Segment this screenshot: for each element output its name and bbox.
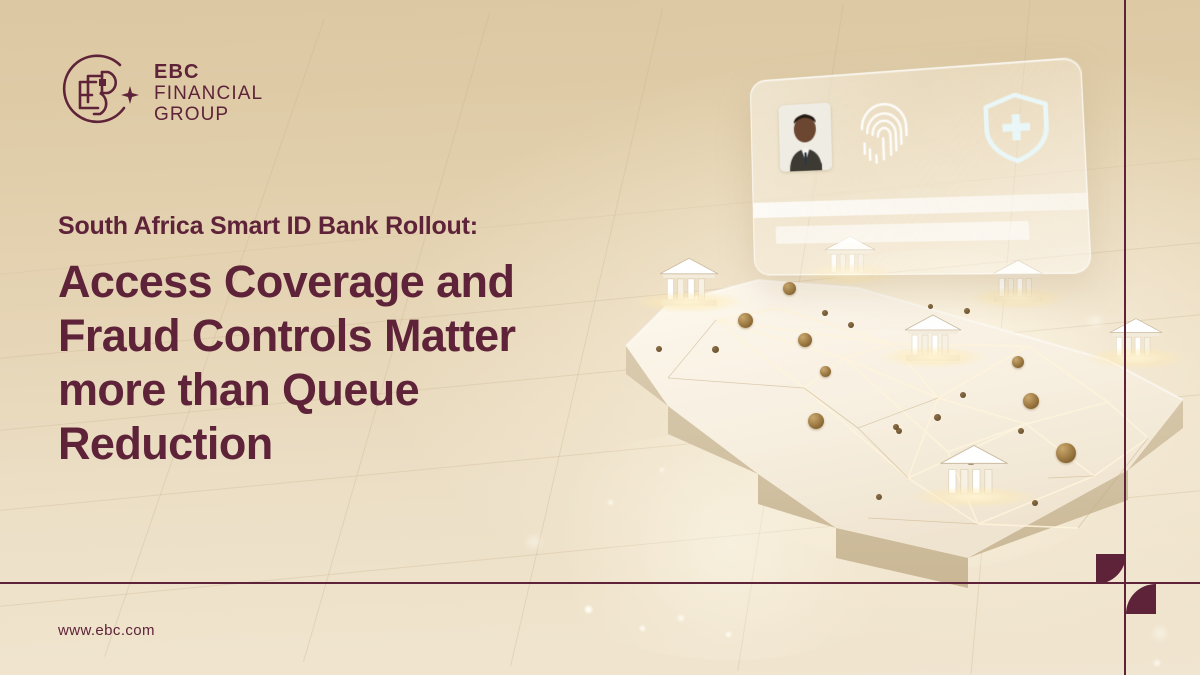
page-title: Access Coverage and Fraud Controls Matte…: [58, 255, 678, 471]
network-node-small: [928, 304, 933, 309]
network-node: [783, 282, 796, 295]
sparkle: [585, 606, 592, 613]
network-node: [738, 313, 753, 328]
headline-line: Access Coverage and: [58, 255, 678, 309]
frame-corner-lower-right: [1126, 584, 1156, 614]
brand-wordmark: EBC FINANCIAL GROUP: [154, 61, 263, 126]
brand-name-line-2: FINANCIAL: [154, 83, 263, 104]
network-node-small: [876, 494, 882, 500]
headline-block: South Africa Smart ID Bank Rollout: Acce…: [58, 212, 678, 471]
eyebrow-text: South Africa Smart ID Bank Rollout:: [58, 212, 678, 241]
network-node-small: [964, 308, 970, 314]
network-node: [798, 333, 812, 347]
sparkle: [726, 632, 731, 637]
headline-line: more than Queue: [58, 363, 678, 417]
brand-logo[interactable]: EBC FINANCIAL GROUP: [58, 52, 263, 134]
ebc-circular-monogram-icon: [58, 52, 140, 134]
fingerprint-icon: [855, 99, 914, 166]
network-node-small: [934, 414, 941, 421]
network-node-small: [822, 310, 828, 316]
network-node-small: [1018, 428, 1024, 434]
passport-portrait-photo: [778, 102, 832, 171]
website-url[interactable]: www.ebc.com: [58, 622, 155, 639]
headline-line: Fraud Controls Matter: [58, 309, 678, 363]
network-node: [1056, 443, 1076, 463]
card-signature-bar: [776, 221, 1030, 244]
brand-name-line-3: GROUP: [154, 104, 263, 125]
social-card-canvas: EBC FINANCIAL GROUP South Africa Smart I…: [0, 0, 1200, 675]
headline-line: Reduction: [58, 417, 678, 471]
sparkle: [640, 626, 645, 631]
sparkle: [1155, 628, 1165, 638]
network-node: [808, 413, 824, 429]
network-node-small: [712, 346, 719, 353]
network-node: [1023, 393, 1039, 409]
network-node: [1012, 356, 1024, 368]
shield-cross-icon: [979, 88, 1054, 165]
card-magnetic-stripe: [754, 193, 1088, 218]
network-node-small: [960, 392, 966, 398]
brand-name-line-1: EBC: [154, 61, 263, 83]
africa-map-3d-plate: [608, 228, 1200, 588]
sparkle: [678, 615, 684, 621]
smart-id-card: [750, 57, 1092, 276]
bank-building-icon: [903, 313, 963, 363]
network-node-small: [893, 424, 899, 430]
network-node: [820, 366, 831, 377]
bank-building-icon: [1108, 316, 1164, 364]
sparkle: [1154, 660, 1160, 666]
sparkle-icon: [121, 86, 139, 104]
sparkle: [528, 538, 540, 546]
network-node-small: [848, 322, 854, 328]
bank-building-icon: [938, 443, 1010, 503]
